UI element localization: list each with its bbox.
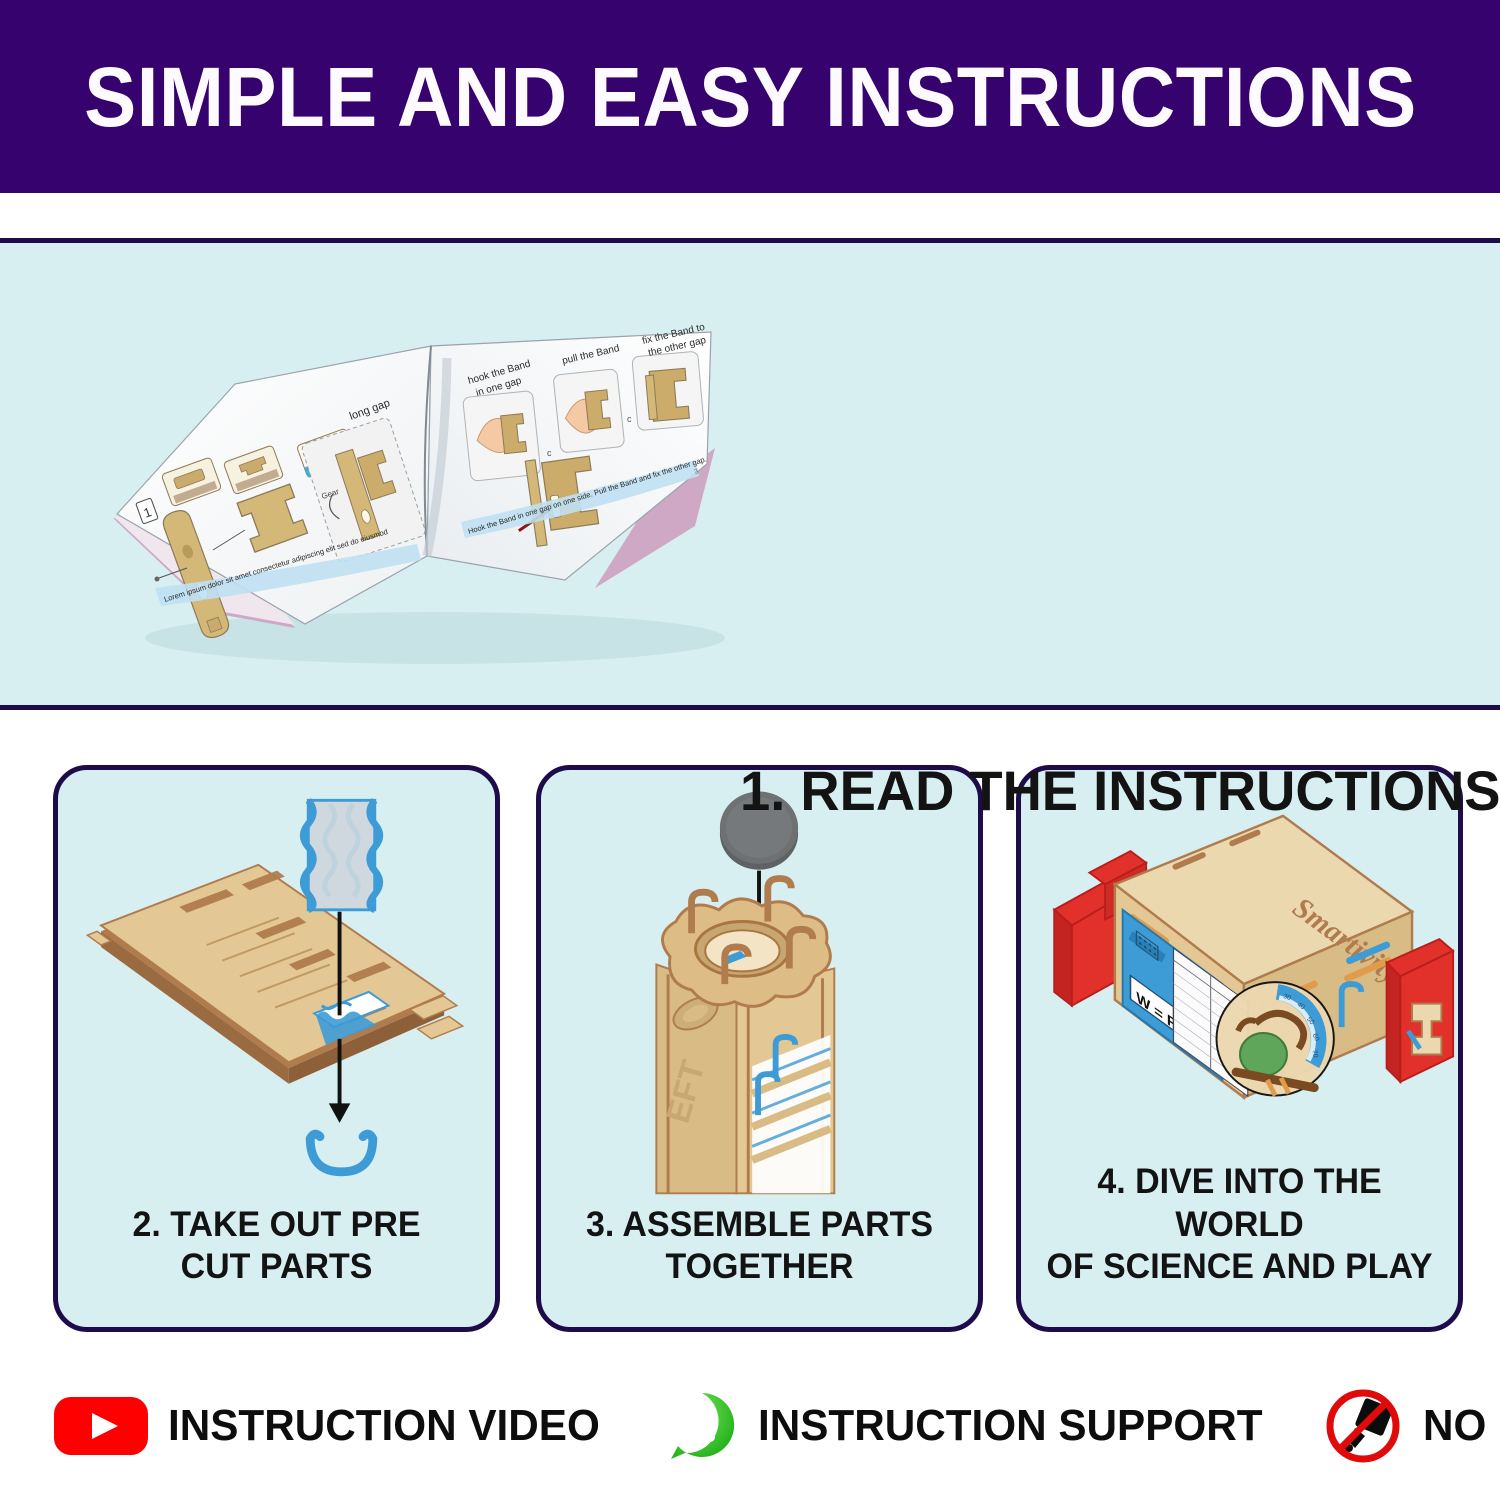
header-banner: SIMPLE AND EASY INSTRUCTIONS <box>0 0 1500 193</box>
whatsapp-icon[interactable] <box>664 1388 740 1464</box>
no-mess-glue-label: NO MESS/GLUE <box>1423 1401 1500 1451</box>
instruction-video-link[interactable]: INSTRUCTION VIDEO <box>52 1352 618 1500</box>
instruction-support-link[interactable]: INSTRUCTION SUPPORT <box>664 1352 1284 1500</box>
step-1-section: 1 <box>0 238 1500 710</box>
step-card-4-caption: 4. DIVE INTO THE WORLD OF SCIENCE AND PL… <box>1028 1161 1452 1289</box>
no-glue-icon <box>1321 1384 1405 1468</box>
page-title: SIMPLE AND EASY INSTRUCTIONS <box>84 55 1417 139</box>
svg-text:c: c <box>547 448 552 458</box>
step-card-3-caption: 3. ASSEMBLE PARTS TOGETHER <box>548 1204 972 1289</box>
step-card-3-caption-line2: TOGETHER <box>565 1246 954 1289</box>
step-card-3[interactable]: EFT <box>536 765 983 1332</box>
instruction-support-label: INSTRUCTION SUPPORT <box>758 1401 1263 1451</box>
footer-links: INSTRUCTION VIDEO INSTRUCTION SUPPORT <box>0 1352 1500 1500</box>
step-card-2-caption-line2: CUT PARTS <box>82 1246 471 1289</box>
finished-machine-illustration: Smartivity <box>1021 778 1458 1198</box>
step-card-2[interactable]: 2. TAKE OUT PRE CUT PARTS <box>53 765 500 1332</box>
step-card-2-caption: 2. TAKE OUT PRE CUT PARTS <box>65 1204 489 1289</box>
step-card-2-caption-line1: 2. TAKE OUT PRE <box>82 1204 471 1247</box>
step-card-4-caption-line1: 4. DIVE INTO THE WORLD <box>1045 1161 1434 1246</box>
step-card-3-caption-line1: 3. ASSEMBLE PARTS <box>565 1204 954 1247</box>
no-mess-glue-badge: NO MESS/GLUE <box>1321 1352 1500 1500</box>
svg-text:c: c <box>627 414 632 424</box>
steps-card-row: 2. TAKE OUT PRE CUT PARTS <box>0 765 1500 1335</box>
step-card-4-caption-line2: OF SCIENCE AND PLAY <box>1045 1246 1434 1289</box>
instruction-video-label: INSTRUCTION VIDEO <box>168 1401 600 1451</box>
punch-out-parts-illustration <box>58 778 495 1198</box>
step-1-caption: 1. READ THE INSTRUCTIONS <box>740 758 1500 823</box>
youtube-icon[interactable] <box>52 1391 150 1461</box>
step-card-4[interactable]: Smartivity <box>1016 765 1463 1332</box>
instruction-booklet-illustration: 1 <box>95 288 755 678</box>
assemble-tower-illustration: EFT <box>541 778 978 1198</box>
